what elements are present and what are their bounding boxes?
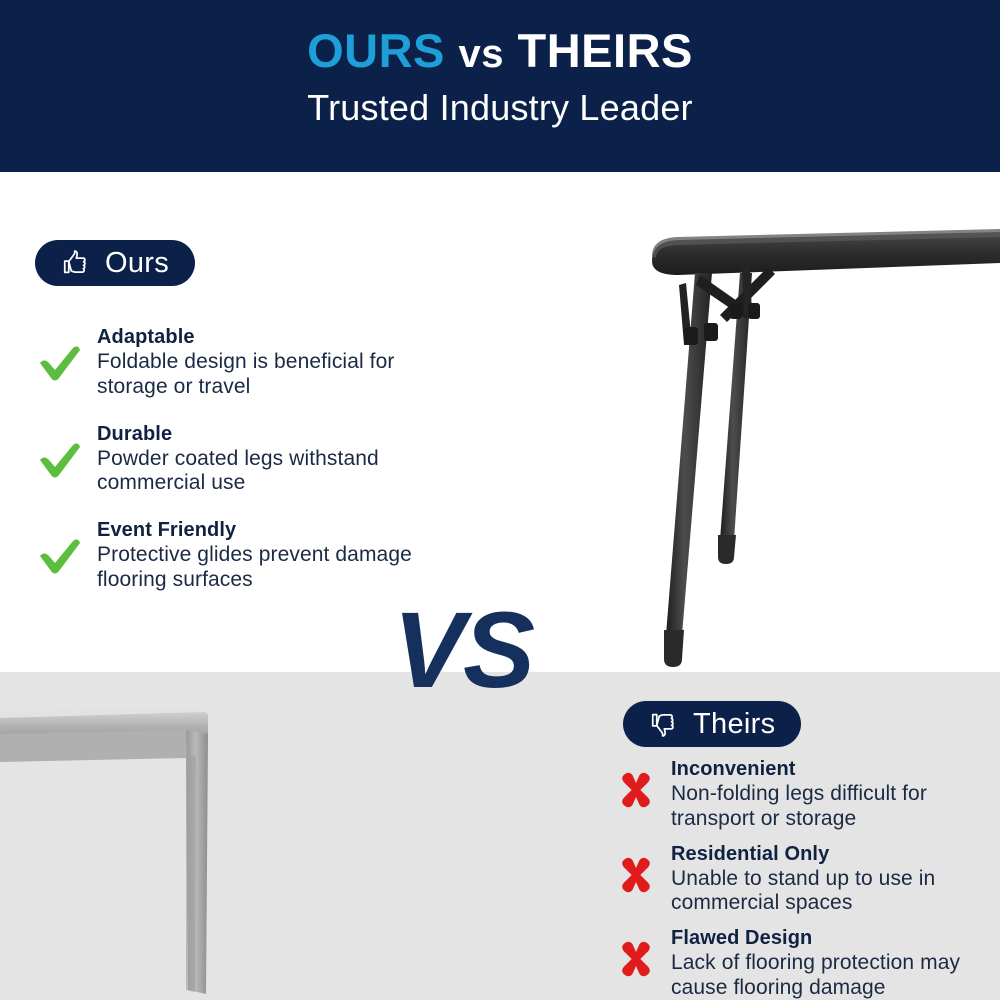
list-item: Flawed Design Lack of flooring protectio… xyxy=(615,926,1000,1000)
check-icon xyxy=(35,436,83,484)
table-clamp-4 xyxy=(748,303,760,319)
list-item-title: Residential Only xyxy=(671,842,1000,867)
title-theirs: THEIRS xyxy=(518,24,693,77)
list-item-description: Protective glides prevent damage floorin… xyxy=(97,543,465,593)
badge-theirs[interactable]: Theirs xyxy=(623,701,801,747)
thumbs-down-icon xyxy=(649,709,679,739)
ours-product-image xyxy=(600,215,1000,675)
list-item: Durable Powder coated legs withstand com… xyxy=(35,422,465,497)
list-item-description: Unable to stand up to use in commercial … xyxy=(671,867,1000,917)
table-glide-rear xyxy=(718,535,736,564)
cross-icon xyxy=(615,938,657,980)
ours-feature-list: Adaptable Foldable design is beneficial … xyxy=(35,325,465,615)
badge-ours-label: Ours xyxy=(105,247,169,280)
theirs-feature-list: Inconvenient Non-folding legs difficult … xyxy=(615,757,1000,1000)
table-clamp-3 xyxy=(730,303,742,319)
list-item: Event Friendly Protective glides prevent… xyxy=(35,518,465,593)
badge-theirs-label: Theirs xyxy=(693,708,775,741)
gray-table-apron xyxy=(0,730,186,762)
page-title: OURS vs THEIRS xyxy=(307,26,693,75)
list-item-description: Non-folding legs difficult for transport… xyxy=(671,782,1000,832)
check-icon xyxy=(35,339,83,387)
header-banner: OURS vs THEIRS Trusted Industry Leader xyxy=(0,0,1000,172)
list-item-description: Powder coated legs withstand commercial … xyxy=(97,447,465,497)
thumbs-up-icon xyxy=(61,248,91,278)
list-item-title: Durable xyxy=(97,422,465,447)
list-item: Residential Only Unable to stand up to u… xyxy=(615,842,1000,917)
comparison-infographic: OURS vs THEIRS Trusted Industry Leader xyxy=(0,0,1000,1000)
title-vs: vs xyxy=(458,32,504,76)
list-item-text: Inconvenient Non-folding legs difficult … xyxy=(671,757,1000,832)
title-ours: OURS xyxy=(307,24,445,77)
table-clamp-2 xyxy=(704,323,718,341)
list-item-text: Residential Only Unable to stand up to u… xyxy=(671,842,1000,917)
list-item-text: Durable Powder coated legs withstand com… xyxy=(97,422,465,497)
list-item-title: Inconvenient xyxy=(671,757,1000,782)
list-item-text: Flawed Design Lack of flooring protectio… xyxy=(671,926,1000,1000)
list-item: Inconvenient Non-folding legs difficult … xyxy=(615,757,1000,832)
badge-ours[interactable]: Ours xyxy=(35,240,195,286)
list-item-title: Flawed Design xyxy=(671,926,1000,951)
table-clamp-1 xyxy=(684,327,698,345)
page-subtitle: Trusted Industry Leader xyxy=(307,87,692,129)
list-item-title: Event Friendly xyxy=(97,518,465,543)
check-icon xyxy=(35,532,83,580)
theirs-product-image xyxy=(0,668,300,1000)
list-item-text: Event Friendly Protective glides prevent… xyxy=(97,518,465,593)
list-item-title: Adaptable xyxy=(97,325,465,350)
vs-divider-label: VS xyxy=(393,596,533,704)
list-item-description: Lack of flooring protection may cause fl… xyxy=(671,951,1000,1000)
list-item-text: Adaptable Foldable design is beneficial … xyxy=(97,325,465,400)
cross-icon xyxy=(615,854,657,896)
table-glide-front xyxy=(664,630,684,667)
list-item-description: Foldable design is beneficial for storag… xyxy=(97,350,465,400)
gray-table-leg-shade xyxy=(186,754,196,992)
cross-icon xyxy=(615,769,657,811)
list-item: Adaptable Foldable design is beneficial … xyxy=(35,325,465,400)
